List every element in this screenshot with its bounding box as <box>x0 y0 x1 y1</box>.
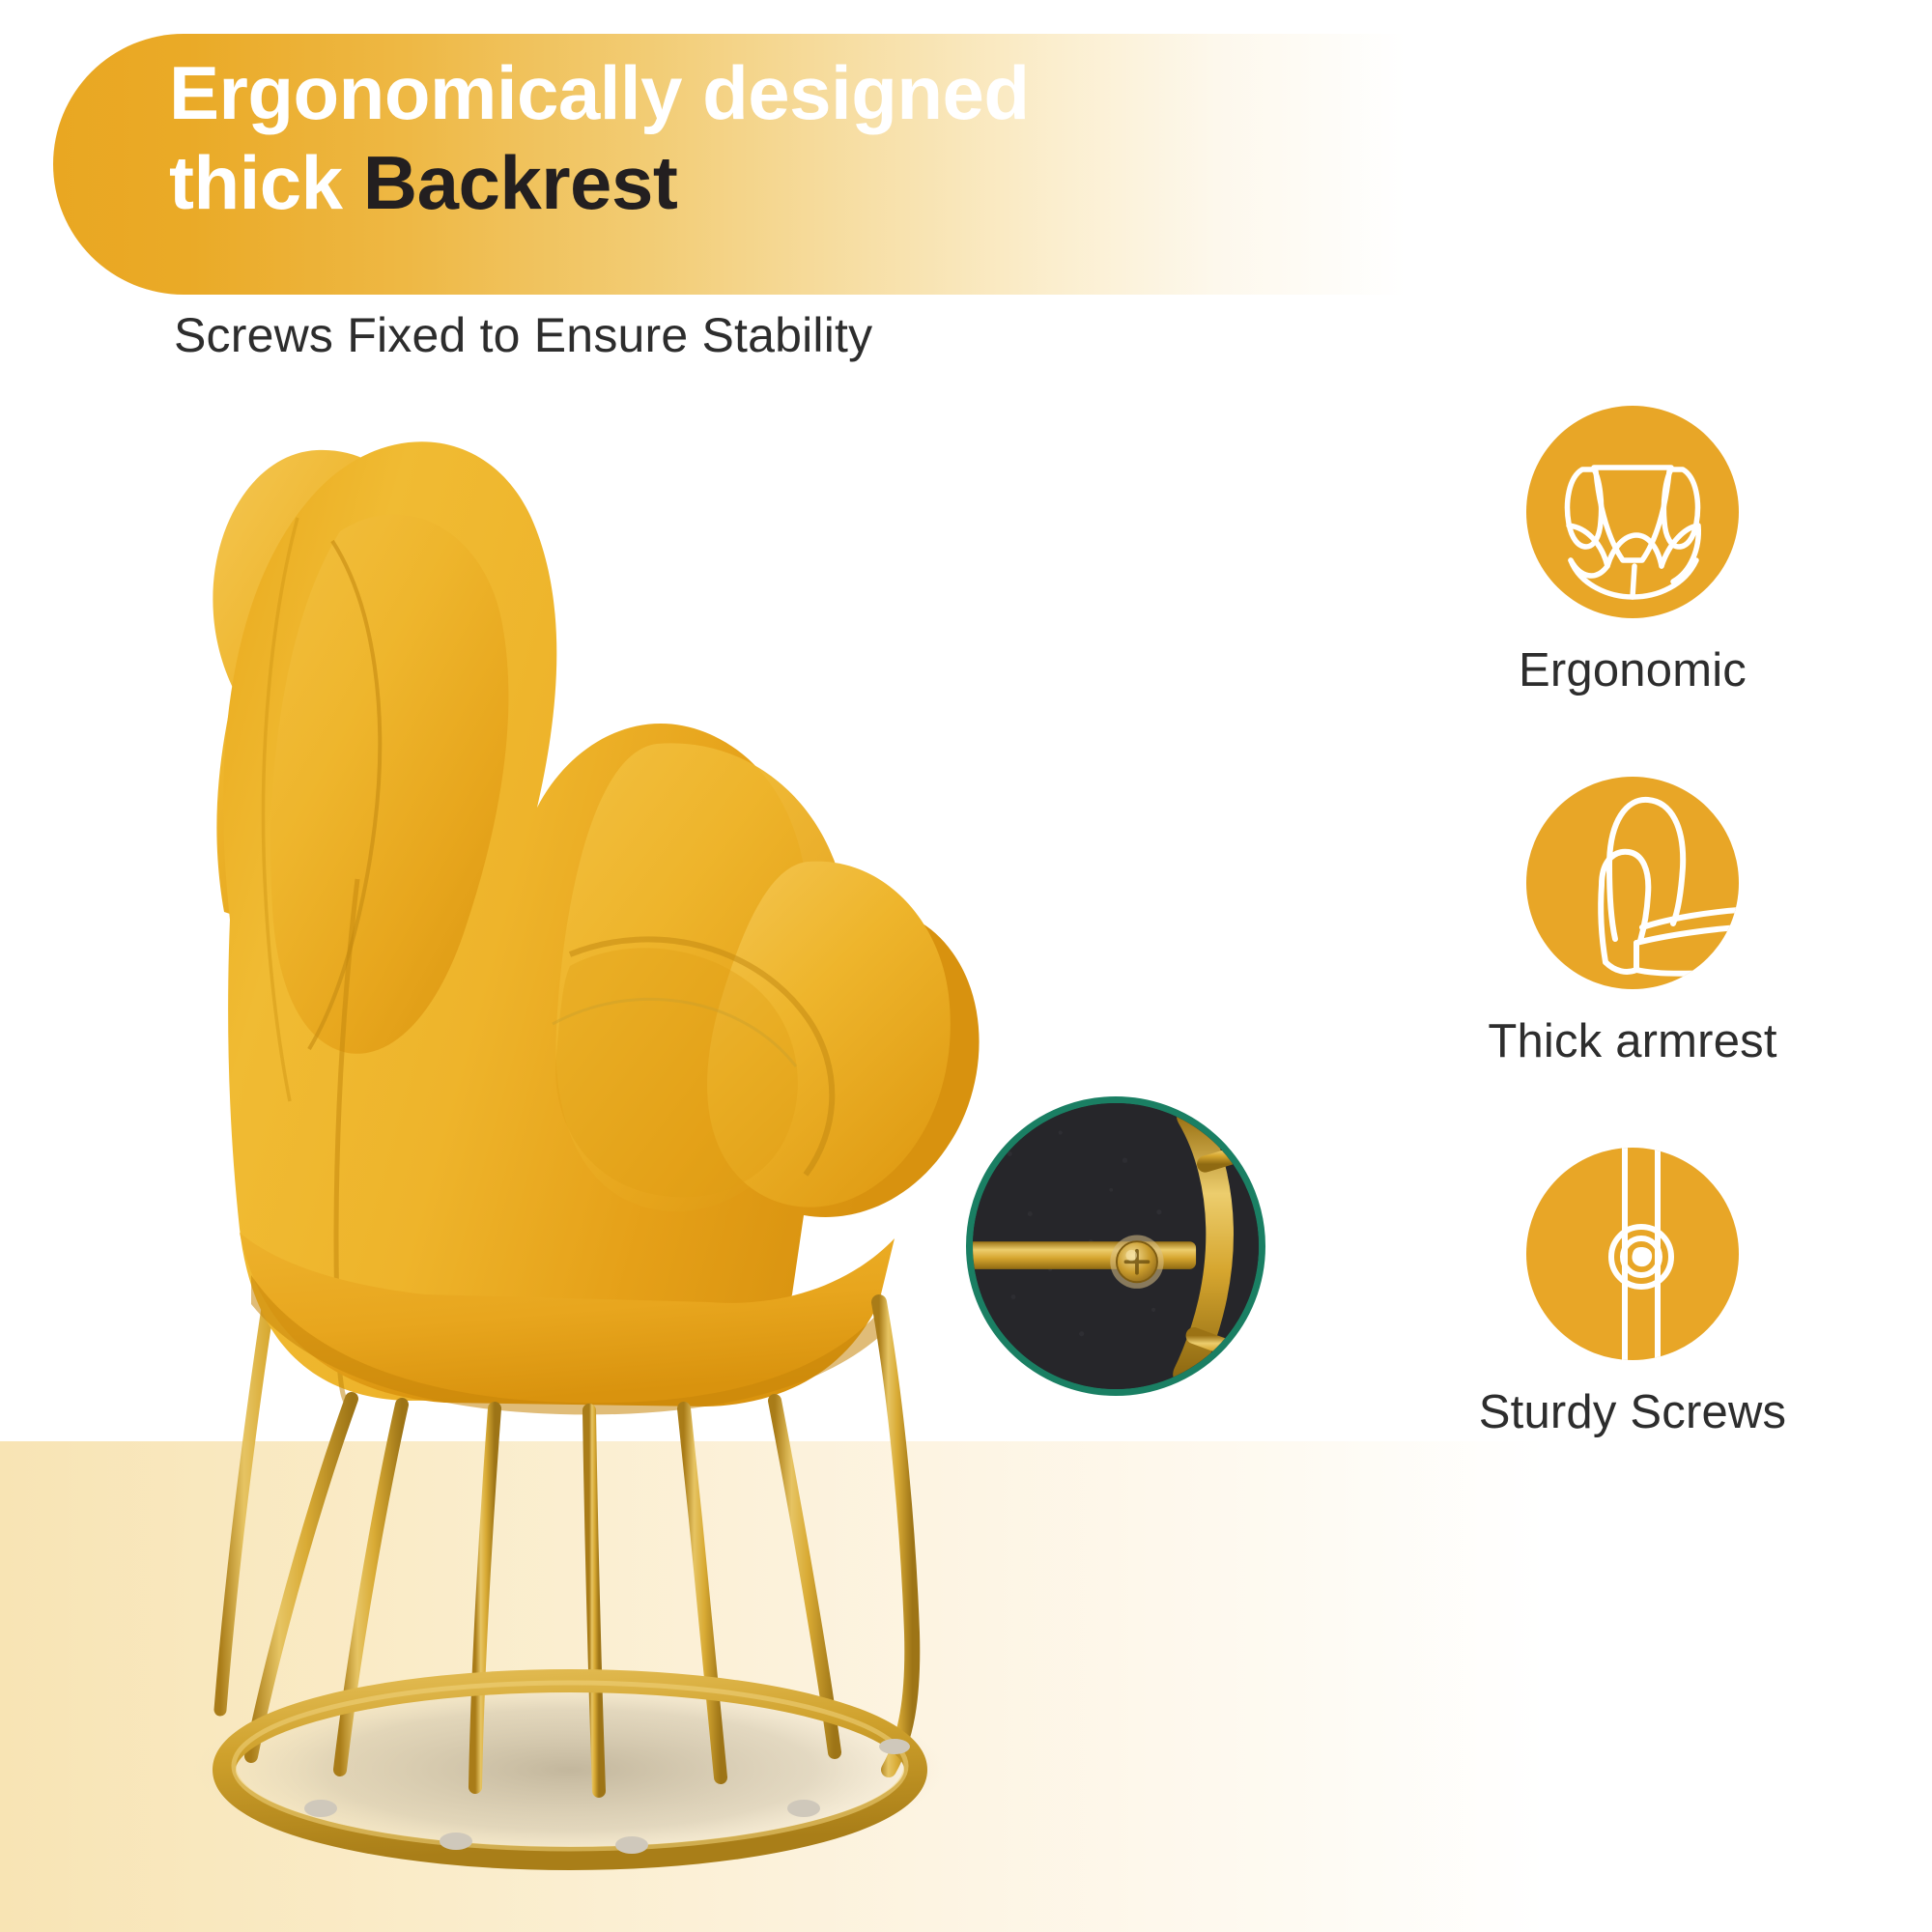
feature-list: Ergonomic <box>1391 406 1874 1519</box>
banner-headline-line2-plain: thick <box>169 140 363 225</box>
feature-label-sturdy-screws: Sturdy Screws <box>1391 1387 1874 1439</box>
feature-label-thick-armrest: Thick armrest <box>1391 1016 1874 1068</box>
feature-item-sturdy-screws: Sturdy Screws <box>1391 1148 1874 1439</box>
thick-armrest-chair-sideview-icon <box>1526 777 1739 989</box>
sturdy-screw-leg-icon <box>1526 1148 1739 1360</box>
banner-headline-line2-bold: Backrest <box>363 140 678 225</box>
product-chair-image <box>116 425 1140 1903</box>
banner-subtitle: Screws Fixed to Ensure Stability <box>174 307 872 363</box>
ergonomic-chair-topview-icon <box>1526 406 1739 618</box>
banner-headline-line2: thick Backrest <box>169 140 1377 226</box>
feature-item-thick-armrest: Thick armrest <box>1391 777 1874 1068</box>
banner-headline: Ergonomically designed thick Backrest <box>169 50 1377 226</box>
banner-headline-line1: Ergonomically designed <box>169 50 1377 136</box>
feature-label-ergonomic: Ergonomic <box>1391 645 1874 697</box>
feature-item-ergonomic: Ergonomic <box>1391 406 1874 697</box>
product-feature-graphic: Ergonomically designed thick Backrest Sc… <box>0 0 1932 1932</box>
screw-detail-callout <box>966 1096 1265 1396</box>
